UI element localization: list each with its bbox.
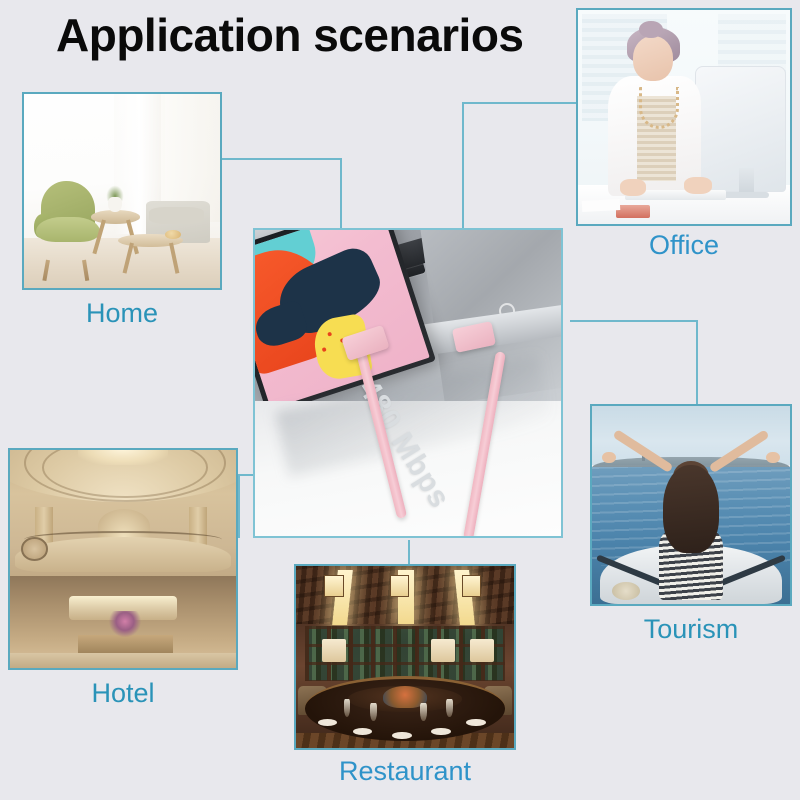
connector-hotel-vertical (238, 474, 240, 538)
caption-office: Office (576, 232, 792, 259)
office-notebook (616, 205, 650, 218)
hotel-ceiling-chandelier (78, 450, 168, 465)
restaurant-lantern (390, 575, 409, 597)
center-product-card[interactable]: 480 Mbps (253, 228, 563, 538)
scenario-card-restaurant[interactable] (294, 564, 516, 750)
hotel-balcony-rail (24, 531, 223, 548)
application-scenarios-infographic: Application scenarios (0, 0, 800, 800)
page-title: Application scenarios (56, 12, 524, 58)
restaurant-glassware (370, 703, 377, 721)
restaurant-glassware (446, 699, 453, 717)
restaurant-glassware (420, 703, 427, 721)
restaurant-lantern (324, 575, 343, 597)
restaurant-place-setting (466, 719, 486, 726)
restaurant-photo (296, 566, 514, 748)
home-photo (24, 94, 220, 288)
restaurant-lamp (431, 639, 455, 663)
hotel-floor (10, 653, 236, 668)
tourism-photo (592, 406, 790, 604)
scenario-card-hotel[interactable] (8, 448, 238, 670)
scenario-card-office[interactable] (576, 8, 792, 226)
restaurant-place-setting (392, 732, 412, 739)
office-photo (578, 10, 790, 224)
center-product-photo: 480 Mbps (255, 230, 561, 536)
connector-tourism-horizontal (570, 320, 698, 322)
restaurant-lamp (470, 639, 494, 663)
office-person-necklace (639, 87, 679, 129)
restaurant-lamp (322, 639, 346, 663)
office-person-hand (620, 179, 645, 196)
office-person-hand (684, 177, 712, 194)
hotel-photo (10, 450, 236, 668)
scenario-card-home[interactable] (22, 92, 222, 290)
connector-office-vertical (462, 102, 464, 230)
home-sofa-cushion (149, 207, 204, 224)
caption-tourism: Tourism (590, 616, 792, 643)
connector-home-horizontal (222, 158, 342, 160)
connector-home-vertical (340, 158, 342, 230)
hotel-wall-clock (21, 537, 48, 561)
caption-home: Home (22, 300, 222, 327)
caption-hotel: Hotel (8, 680, 238, 707)
monitor-stand (739, 168, 754, 194)
monitor-base (722, 192, 769, 198)
home-side-table (91, 210, 140, 224)
home-armchair (36, 181, 101, 262)
office-person-bun (639, 21, 662, 38)
hotel-flower-arrangement (109, 611, 141, 637)
tourism-person-hand (602, 452, 616, 464)
armchair-seat (36, 217, 101, 241)
tourism-person-hair (663, 465, 718, 552)
connector-office-horizontal (462, 102, 576, 104)
restaurant-lantern (462, 575, 481, 597)
caption-restaurant: Restaurant (294, 758, 516, 785)
office-person-head (633, 36, 673, 81)
tourism-boat-rope (612, 582, 640, 600)
scenario-card-tourism[interactable] (590, 404, 792, 606)
